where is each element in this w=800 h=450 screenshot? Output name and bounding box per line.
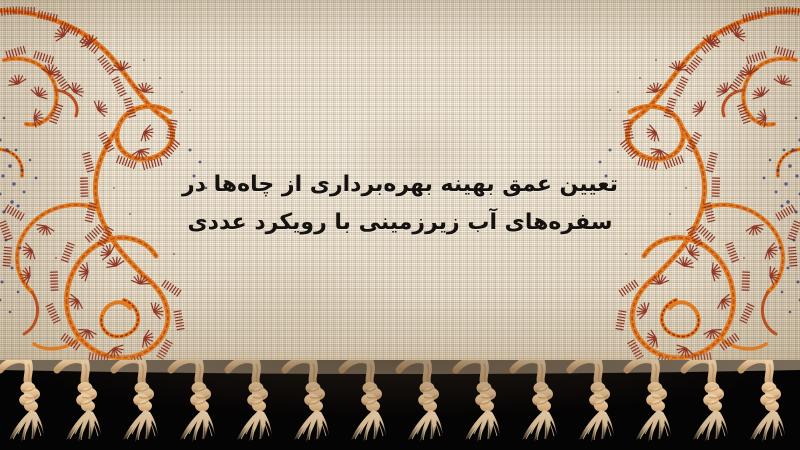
fabric-panel (0, 0, 800, 378)
tassel-fringe (0, 360, 800, 450)
fabric-vignette (0, 0, 800, 378)
tassel-fringe-icon (0, 360, 800, 450)
paisley-embroidery-left-icon (0, 0, 254, 378)
paisley-embroidery-right-icon (546, 0, 800, 378)
title-slide: تعیین عمق بهینه بهره‌برداری از چاه‌ها در… (0, 0, 800, 450)
fabric-stains (0, 0, 800, 378)
linen-weave-texture-secondary (0, 0, 800, 378)
linen-weave-texture (0, 0, 800, 378)
